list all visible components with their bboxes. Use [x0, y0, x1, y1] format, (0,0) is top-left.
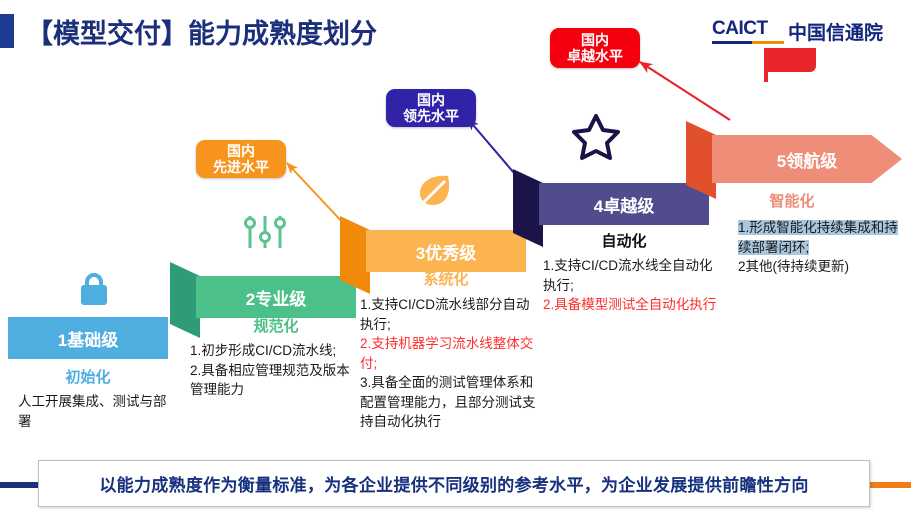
badge-advanced[interactable]: 国内 先进水平 — [196, 140, 286, 178]
level-5-body-item: 2其他(待持续更新) — [738, 257, 898, 277]
level-2-body-item: 2.具备相应管理规范及版本管理能力 — [190, 361, 362, 400]
level-4-body: 1.支持CI/CD流水线全自动化执行; 2.具备模型测试全自动化执行 — [543, 256, 721, 315]
level-3-body-item: 1.支持CI/CD流水线部分自动执行; — [360, 295, 538, 334]
caict-logo: CAICT 中国信通院 — [712, 18, 902, 80]
badge-leading-line1: 国内 — [417, 92, 445, 108]
level-4-body-item: 1.支持CI/CD流水线全自动化执行; — [543, 256, 721, 295]
level-1-body: 人工开展集成、测试与部署 — [18, 392, 178, 431]
level-2-body: 1.初步形成CI/CD流水线; 2.具备相应管理规范及版本管理能力 — [190, 341, 362, 400]
sliders-icon — [242, 210, 288, 256]
level-3-body: 1.支持CI/CD流水线部分自动执行; 2.支持机器学习流水线整体交付; 3.具… — [360, 295, 538, 432]
logo-underline-orange — [752, 41, 784, 44]
banner-right-accent — [866, 482, 911, 488]
level-4-body-item-highlight: 2.具备模型测试全自动化执行 — [543, 295, 721, 315]
badge-advanced-line1: 国内 — [227, 143, 255, 159]
level-3-title: 3优秀级 — [366, 230, 526, 272]
logo-underline-blue — [712, 41, 752, 44]
level-2-subtitle: 规范化 — [196, 315, 356, 336]
level-4-title: 4卓越级 — [539, 183, 709, 225]
logo-chinese-text: 中国信通院 — [788, 18, 883, 45]
level-1-body-item: 人工开展集成、测试与部署 — [18, 392, 178, 431]
level-5-body-item-selected: 1.形成智能化持续集成和持续部署闭环; — [738, 220, 898, 255]
lock-icon — [72, 262, 116, 308]
level-3-subtitle: 系统化 — [366, 268, 526, 289]
badge-excellent-line2: 卓越水平 — [567, 48, 623, 64]
level-1-title: 1基础级 — [8, 317, 168, 359]
title-accent-bar — [0, 14, 14, 48]
badge-excellent[interactable]: 国内 卓越水平 — [550, 28, 640, 68]
red-flag-icon — [768, 48, 816, 72]
level-3-body-item: 3.具备全面的测试管理体系和配置管理能力，且部分测试支持自动化执行 — [360, 373, 538, 432]
level-5-body: 1.形成智能化持续集成和持续部署闭环; 2其他(待持续更新) — [738, 218, 898, 277]
badge-excellent-line1: 国内 — [581, 32, 609, 48]
level-5-side-face — [686, 121, 716, 199]
level-5-body-item: 1.形成智能化持续集成和持续部署闭环; — [738, 218, 898, 257]
level-1-subtitle: 初始化 — [8, 366, 168, 387]
logo-abbr-text: CAICT — [712, 18, 768, 40]
summary-banner-text: 以能力成熟度作为衡量标准，为各企业提供不同级别的参考水平，为企业发展提供前瞻性方… — [99, 471, 808, 496]
level-3-body-item-highlight: 2.支持机器学习流水线整体交付; — [360, 334, 538, 373]
badge-leading-line2: 领先水平 — [403, 108, 459, 124]
summary-banner: 以能力成熟度作为衡量标准，为各企业提供不同级别的参考水平，为企业发展提供前瞻性方… — [38, 460, 870, 507]
level-2-title: 2专业级 — [196, 276, 356, 318]
leaf-icon — [412, 168, 458, 214]
level-4-subtitle: 自动化 — [539, 230, 709, 251]
level-5-subtitle: 智能化 — [712, 190, 872, 211]
slide-canvas: 【模型交付】能力成熟度划分 CAICT 中国信通院 国内 先进水平 — [0, 0, 911, 510]
badge-leading[interactable]: 国内 领先水平 — [386, 89, 476, 127]
star-icon — [570, 110, 622, 162]
level-5-title: 5领航级 — [712, 135, 902, 183]
badge-advanced-line2: 先进水平 — [213, 159, 269, 175]
page-title: 【模型交付】能力成熟度划分 — [26, 12, 377, 51]
level-2-body-item: 1.初步形成CI/CD流水线; — [190, 341, 362, 361]
